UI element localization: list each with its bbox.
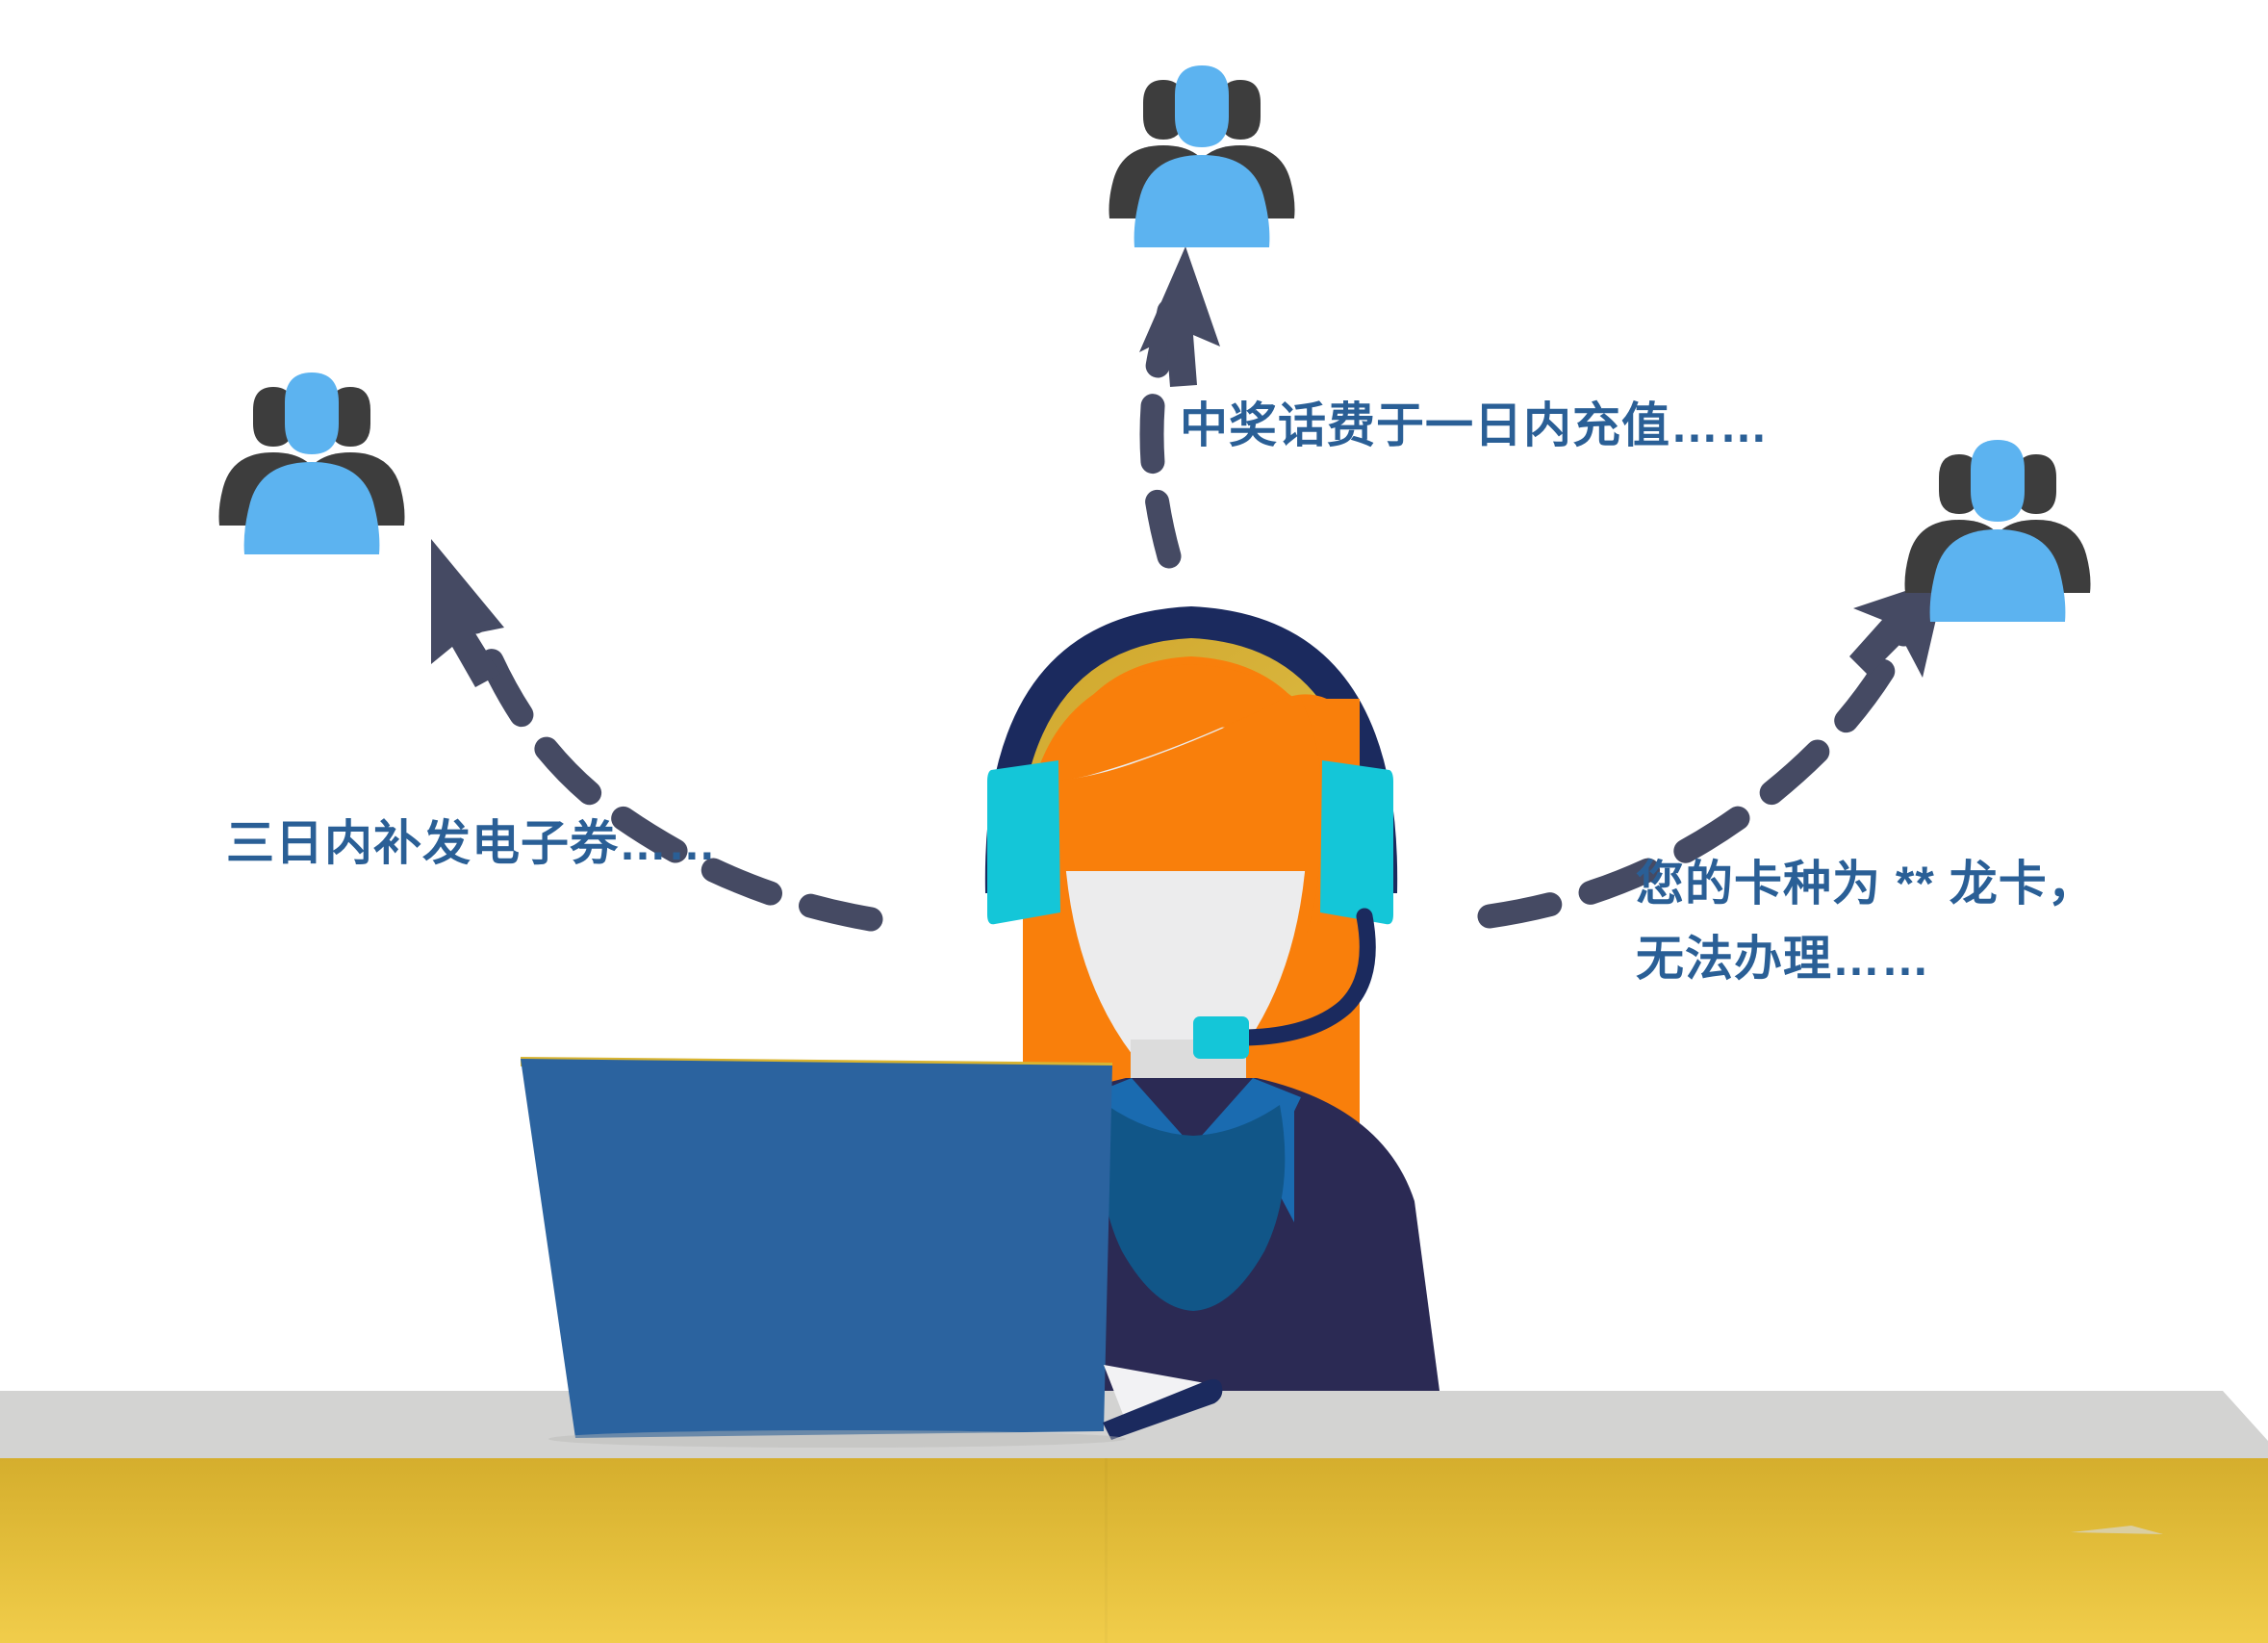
laptop-shadow — [548, 1430, 1126, 1448]
people-group-icon-right — [1905, 440, 2091, 622]
laptop-lid — [521, 1059, 1112, 1438]
callout-right-line2: 无法办理…… — [1636, 922, 2097, 997]
callout-right-line1: 您的卡种为 ** 龙卡， — [1636, 857, 2097, 911]
illustration-canvas: 中奖话费于一日内充值…… 三日内补发电子券…… 您的卡种为 ** 龙卡， 无法办… — [0, 0, 2268, 1643]
headset-earcup-right — [1320, 760, 1393, 924]
callout-left-text: 三日内补发电子券…… — [226, 807, 717, 882]
people-group-icon-left — [219, 372, 405, 554]
callout-right-text: 您的卡种为 ** 龙卡， 无法办理…… — [1636, 847, 2097, 996]
people-group-icon-top — [1109, 65, 1295, 247]
callout-top-text: 中奖话费于一日内充值…… — [1180, 389, 1769, 464]
desk-front-seam — [1105, 1458, 1108, 1643]
headset-mic-capsule — [1193, 1016, 1249, 1059]
headset-earcup-left — [987, 760, 1060, 924]
dashed-arrow-left-head — [431, 539, 504, 687]
desk-front-panel — [0, 1458, 2268, 1643]
